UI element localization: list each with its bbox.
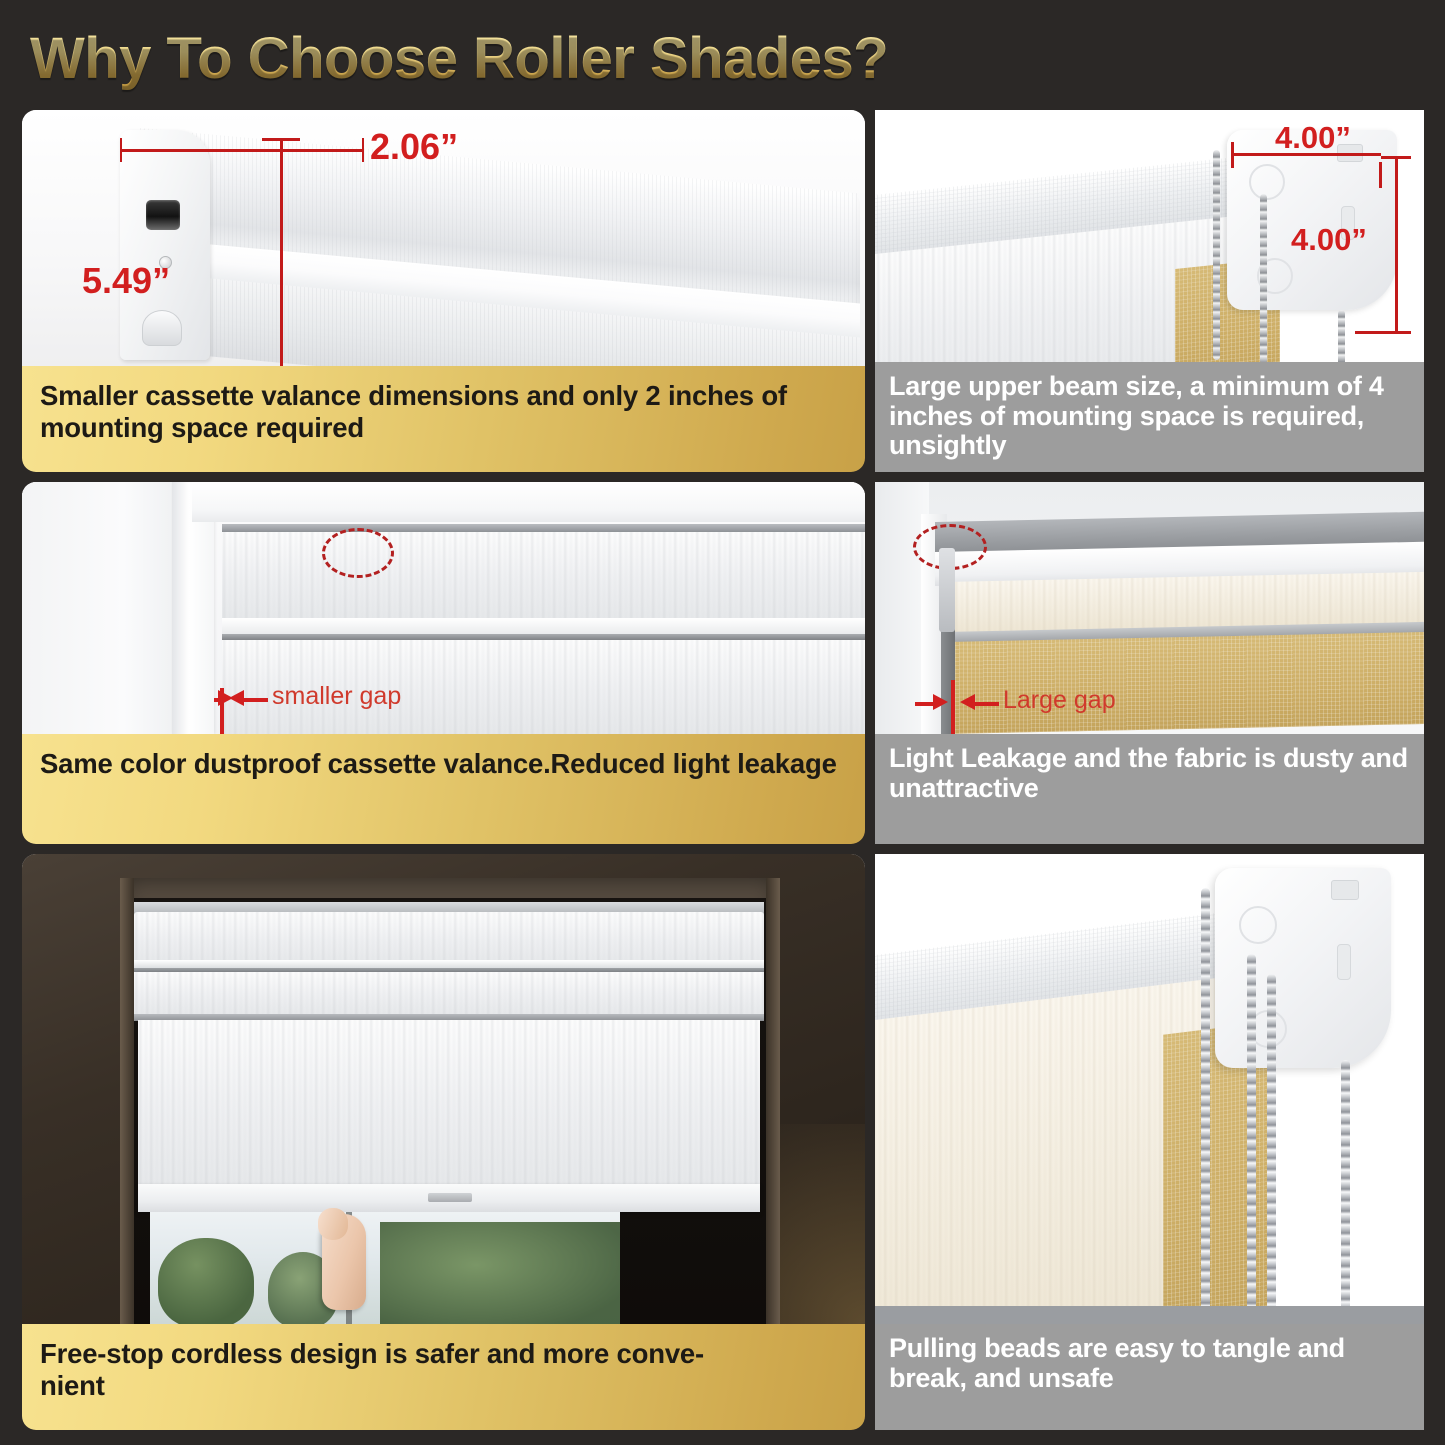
- tree-left: [158, 1238, 254, 1324]
- endcap-bracket: [142, 310, 182, 346]
- comparison-grid: 2.06” 5.49” Smaller cassette valance dim…: [22, 110, 1424, 1430]
- window-frame-top: [192, 482, 865, 522]
- fingers: [318, 1208, 348, 1240]
- infographic-root: Why To Choose Roller Shades?: [0, 0, 1445, 1445]
- panel-good-row1: 2.06” 5.49” Smaller cassette valance dim…: [22, 110, 865, 472]
- caption-bad-row3: Pulling beads are easy to tangle and bre…: [875, 1324, 1424, 1430]
- photo-large-upper-beam: 4.00” 4.00”: [875, 110, 1424, 362]
- photo-light-leakage: Large gap: [875, 482, 1424, 734]
- photo-dustproof-cassette-valance: smaller gap: [22, 482, 865, 734]
- valance-end-cap: [120, 130, 210, 360]
- exposed-bracket: [939, 548, 955, 632]
- outdoor-view: [150, 1212, 620, 1324]
- bead-chain-3: [1267, 974, 1276, 1324]
- photo-cordless-window-scene: [22, 854, 865, 1324]
- bead-chain-2: [1247, 954, 1256, 1324]
- scene-cassette-valance: [134, 912, 764, 964]
- panel-bad-row3: Pulling beads are easy to tangle and bre…: [875, 854, 1424, 1430]
- scene-shade-fabric: [138, 1020, 760, 1188]
- caption-good-row3-line2: nient: [40, 1370, 105, 1401]
- page-title-text: Why To Choose Roller Shades?: [30, 25, 888, 92]
- dim-label-height-549: 5.49”: [82, 260, 170, 302]
- bead-chain-1: [1201, 888, 1210, 1324]
- dim-label-beam-width: 4.00”: [1275, 120, 1351, 156]
- frame-right: [766, 878, 780, 1324]
- tree-right: [380, 1222, 620, 1324]
- bead-chain-4: [1341, 1060, 1350, 1324]
- caption-good-row2: Same color dustproof cassette valance.Re…: [22, 734, 865, 844]
- scene-bottom-rail: [138, 1184, 760, 1212]
- caption-good-row3: Free-stop cordless design is safer and m…: [22, 1324, 865, 1430]
- bead-chain-right: [1338, 310, 1345, 362]
- caption-good-row3-line1: Free-stop cordless design is safer and m…: [40, 1338, 704, 1369]
- mounting-bracket: [1227, 130, 1397, 310]
- page-title: Why To Choose Roller Shades?: [30, 22, 1410, 94]
- caption-bad-row1: Large upper beam size, a minimum of 4 in…: [875, 362, 1424, 472]
- photo-pulling-beads: [875, 854, 1424, 1324]
- panel-bad-row1: 4.00” 4.00” Large upper beam size, a min…: [875, 110, 1424, 472]
- dusty-tan-fabric: [947, 632, 1424, 734]
- endcap-slot: [146, 200, 180, 230]
- caption-bad-row2: Light Leakage and the fabric is dusty an…: [875, 734, 1424, 844]
- mounting-bracket-2: [1215, 868, 1391, 1068]
- dim-label-width-206: 2.06”: [370, 126, 458, 168]
- panel-good-row3: Free-stop cordless design is safer and m…: [22, 854, 865, 1430]
- rail-grip-tab: [428, 1193, 472, 1202]
- cassette-top-edge: [222, 524, 865, 532]
- panel-good-row2: smaller gap Same color dustproof cassett…: [22, 482, 865, 844]
- bead-chain-left: [1213, 150, 1220, 360]
- bead-chain-mid: [1260, 194, 1267, 362]
- floor-strip: [875, 1306, 1424, 1324]
- window-wall: [22, 482, 192, 734]
- highlight-ring-small-gap: [322, 528, 394, 578]
- panel-bad-row2: Large gap Light Leakage and the fabric i…: [875, 482, 1424, 844]
- caption-good-row1: Smaller cassette valance dimensions and …: [22, 366, 865, 472]
- cassette-valance-face: [222, 532, 865, 620]
- dim-label-beam-height: 4.00”: [1291, 222, 1367, 258]
- gap-label-large: Large gap: [1003, 686, 1116, 715]
- gap-label-smaller: smaller gap: [272, 682, 401, 711]
- frame-left: [120, 878, 134, 1324]
- photo-cassette-valance-dimensions: 2.06” 5.49”: [22, 110, 865, 366]
- scene-valance-lower: [134, 972, 764, 1016]
